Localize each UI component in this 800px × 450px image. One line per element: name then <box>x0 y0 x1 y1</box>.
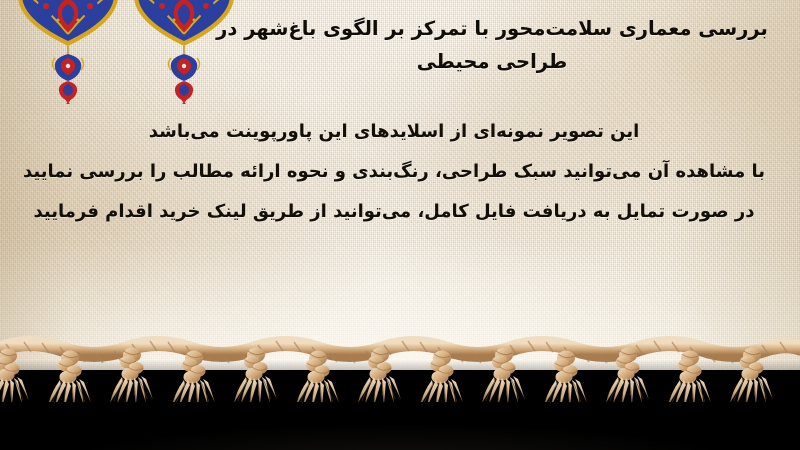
title-line-1: بررسی معماری سلامت‌محور با تمرکز بر الگو… <box>212 12 772 45</box>
body-line-1: این تصویر نمونه‌ای از اسلایدهای این پاور… <box>10 112 778 152</box>
knotted-rope-tassel-fringe-icon <box>0 336 800 402</box>
slide-body: این تصویر نمونه‌ای از اسلایدهای این پاور… <box>10 112 778 232</box>
slide-title: بررسی معماری سلامت‌محور با تمرکز بر الگو… <box>212 12 772 78</box>
presentation-slide: بررسی معماری سلامت‌محور با تمرکز بر الگو… <box>0 0 800 450</box>
body-line-2: با مشاهده آن می‌توانید سبک طراحی، رنگ‌بن… <box>10 152 778 192</box>
title-line-2: طراحی محیطی <box>212 45 772 78</box>
body-line-3: در صورت تمایل به دریافت فایل کامل، می‌تو… <box>10 192 778 232</box>
persian-illumination-pendant-icon <box>8 0 128 104</box>
